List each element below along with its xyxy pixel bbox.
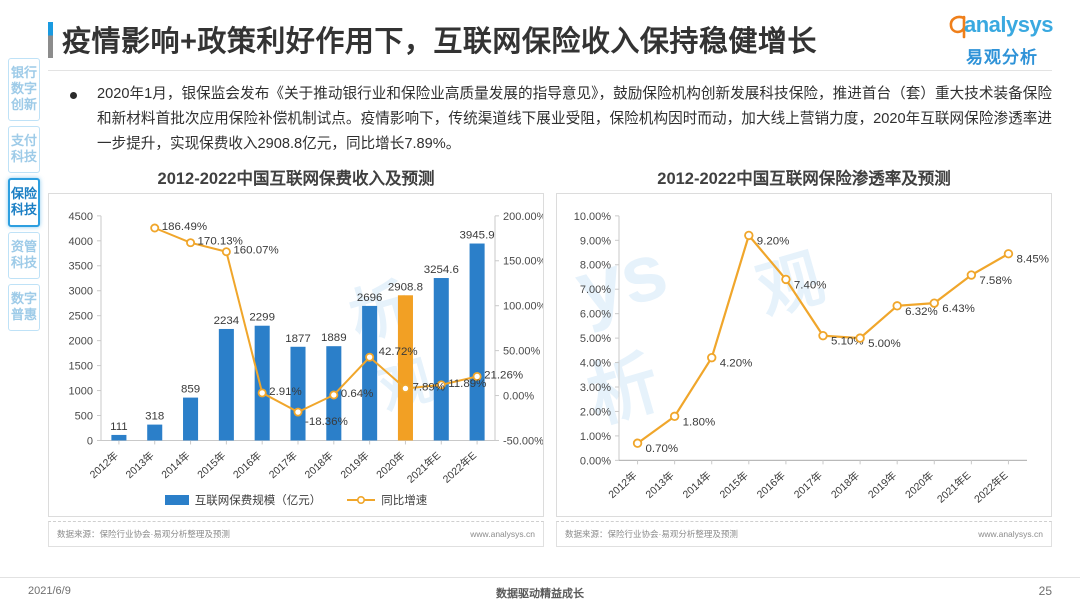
svg-text:2015年: 2015年	[717, 469, 751, 501]
svg-text:3.00%: 3.00%	[580, 382, 611, 394]
chart-source-text: 数据来源：保险行业协会·易观分析整理及预测	[57, 528, 230, 540]
svg-text:2020年: 2020年	[374, 449, 408, 481]
legend-item-bar[interactable]: 互联网保费规模（亿元）	[165, 492, 322, 508]
legend-swatch-bar-icon	[165, 495, 189, 505]
sidebar-item-label: 支付科技	[9, 133, 39, 165]
analysys-logo: analysys 易观分析	[942, 12, 1062, 64]
svg-text:2.91%: 2.91%	[269, 386, 302, 398]
svg-text:318: 318	[145, 411, 164, 423]
svg-text:0.00%: 0.00%	[503, 391, 534, 403]
svg-text:11.89%: 11.89%	[448, 378, 486, 390]
svg-text:10.00%: 10.00%	[574, 211, 612, 223]
bullet-paragraph-text: 2020年1月，银保监会发布《关于推动银行业和保险业高质量发展的指导意见》，鼓励…	[97, 82, 1052, 157]
svg-text:3254.6: 3254.6	[424, 264, 459, 276]
svg-text:2019年: 2019年	[338, 449, 372, 481]
svg-text:7.00%: 7.00%	[580, 284, 611, 296]
svg-text:-18.36%: -18.36%	[305, 416, 348, 428]
svg-text:0.00%: 0.00%	[580, 455, 611, 467]
svg-text:150.00%: 150.00%	[503, 256, 543, 268]
svg-text:2022年E: 2022年E	[440, 449, 479, 486]
svg-text:0.64%: 0.64%	[341, 388, 374, 400]
chart-footer-premium-income: 数据来源：保险行业协会·易观分析整理及预测 www.analysys.cn	[48, 521, 544, 547]
svg-text:2.00%: 2.00%	[580, 406, 611, 418]
sidebar-nav[interactable]: 银行数字创新 支付科技 保险科技 资管科技 数字普惠	[8, 58, 42, 336]
sidebar-item-label: 保险科技	[10, 186, 38, 218]
svg-text:4.20%: 4.20%	[720, 358, 753, 370]
svg-text:2018年: 2018年	[302, 449, 336, 481]
chart-panel-penetration-rate: 2012-2022中国互联网保险渗透率及预测 ys 析 观 0.00%1.00%…	[556, 165, 1052, 547]
svg-text:2019年: 2019年	[865, 469, 899, 501]
svg-text:2021年E: 2021年E	[404, 449, 443, 486]
sidebar-item-bank-digital[interactable]: 银行数字创新	[8, 58, 40, 121]
svg-text:7.58%: 7.58%	[979, 275, 1012, 287]
chart-title-premium-income: 2012-2022中国互联网保费收入及预测	[48, 165, 544, 189]
svg-text:3945.9: 3945.9	[460, 230, 495, 242]
chart-svg-premium-income: 050010001500200025003000350040004500-50.…	[49, 194, 543, 516]
legend-label-bar: 互联网保费规模（亿元）	[195, 492, 322, 508]
svg-text:3500: 3500	[69, 261, 93, 273]
svg-text:186.49%: 186.49%	[162, 221, 207, 233]
svg-text:1.80%: 1.80%	[683, 416, 716, 428]
svg-text:1877: 1877	[285, 333, 311, 345]
svg-text:42.72%: 42.72%	[379, 346, 418, 358]
svg-text:8.45%: 8.45%	[1016, 254, 1049, 266]
svg-text:2012年: 2012年	[606, 469, 640, 501]
svg-text:1889: 1889	[321, 332, 347, 344]
footer-page-number: 25	[1039, 584, 1052, 598]
svg-text:2017年: 2017年	[791, 469, 825, 501]
sidebar-item-label: 数字普惠	[9, 291, 39, 323]
svg-text:160.07%: 160.07%	[233, 245, 278, 257]
svg-text:9.20%: 9.20%	[757, 235, 790, 247]
svg-text:2000: 2000	[69, 336, 93, 348]
svg-text:2015年: 2015年	[195, 449, 229, 481]
bullet-dot-icon	[70, 92, 77, 99]
sidebar-item-label: 资管科技	[9, 239, 39, 271]
svg-text:500: 500	[75, 411, 93, 423]
header-divider	[48, 70, 1052, 71]
svg-text:111: 111	[110, 421, 127, 433]
chart-footer-penetration-rate: 数据来源：保险行业协会·易观分析整理及预测 www.analysys.cn	[556, 521, 1052, 547]
title-accent-bar	[48, 22, 53, 58]
page-footer: 2021/6/9 数据驱动精益成长 25	[0, 577, 1080, 608]
svg-text:200.00%: 200.00%	[503, 211, 543, 223]
svg-text:2016年: 2016年	[230, 449, 264, 481]
svg-text:0: 0	[87, 435, 93, 447]
sidebar-item-digital-inclusive[interactable]: 数字普惠	[8, 284, 40, 331]
svg-text:1500: 1500	[69, 361, 93, 373]
svg-text:2017年: 2017年	[266, 449, 300, 481]
svg-text:7.89%: 7.89%	[412, 381, 445, 393]
svg-text:5.00%: 5.00%	[580, 333, 611, 345]
page-title: 疫情影响+政策利好作用下，互联网保险收入保持稳健增长	[62, 18, 817, 60]
svg-text:3000: 3000	[69, 286, 93, 298]
svg-text:2012年: 2012年	[87, 449, 121, 481]
svg-text:7.40%: 7.40%	[794, 279, 827, 291]
chart-source-url: www.analysys.cn	[470, 529, 535, 539]
chart-body-premium-income: 析 观 050010001500200025003000350040004500…	[48, 193, 544, 517]
svg-text:-50.00%: -50.00%	[503, 435, 543, 447]
sidebar-item-payment-tech[interactable]: 支付科技	[8, 126, 40, 173]
svg-text:2022年E: 2022年E	[971, 469, 1010, 506]
svg-text:2908.8: 2908.8	[388, 281, 423, 293]
svg-text:6.00%: 6.00%	[580, 309, 611, 321]
svg-text:1000: 1000	[69, 386, 93, 398]
svg-text:4500: 4500	[69, 211, 93, 223]
footer-slogan: 数据驱动精益成长	[0, 585, 1080, 601]
svg-text:9.00%: 9.00%	[580, 235, 611, 247]
svg-text:2018年: 2018年	[828, 469, 862, 501]
chart-source-text: 数据来源：保险行业协会·易观分析整理及预测	[565, 528, 738, 540]
logo-chinese-name: 易观分析	[942, 43, 1062, 68]
svg-text:2500: 2500	[69, 311, 93, 323]
chart-source-url: www.analysys.cn	[978, 529, 1043, 539]
svg-text:1.00%: 1.00%	[580, 431, 611, 443]
svg-text:5.00%: 5.00%	[868, 338, 901, 350]
svg-text:2020年: 2020年	[902, 469, 936, 501]
legend-item-line[interactable]: 同比增速	[347, 492, 427, 508]
svg-text:4000: 4000	[69, 236, 93, 248]
svg-text:100.00%: 100.00%	[503, 301, 543, 313]
page-header: 疫情影响+政策利好作用下，互联网保险收入保持稳健增长 analysys 易观分析	[0, 0, 1080, 74]
svg-text:6.43%: 6.43%	[942, 303, 975, 315]
svg-text:2014年: 2014年	[680, 469, 714, 501]
svg-text:50.00%: 50.00%	[503, 346, 541, 358]
sidebar-item-insurance-tech[interactable]: 保险科技	[8, 178, 40, 227]
svg-text:0.70%: 0.70%	[646, 443, 679, 455]
svg-text:859: 859	[181, 384, 200, 396]
svg-text:8.00%: 8.00%	[580, 260, 611, 272]
chart-title-penetration-rate: 2012-2022中国互联网保险渗透率及预测	[556, 165, 1052, 189]
svg-text:2016年: 2016年	[754, 469, 788, 501]
chart-panel-premium-income: 2012-2022中国互联网保费收入及预测 析 观 05001000150020…	[48, 165, 544, 547]
svg-text:2696: 2696	[357, 292, 383, 304]
chart-body-penetration-rate: ys 析 观 0.00%1.00%2.00%3.00%4.00%5.00%6.0…	[556, 193, 1052, 517]
legend-label-line: 同比增速	[381, 492, 427, 508]
logo-wordmark: analysys	[964, 12, 1053, 38]
svg-text:2021年E: 2021年E	[934, 469, 973, 506]
sidebar-item-label: 银行数字创新	[9, 65, 39, 113]
sidebar-item-asset-mgmt-tech[interactable]: 资管科技	[8, 232, 40, 279]
svg-text:2013年: 2013年	[643, 469, 677, 501]
legend-swatch-line-icon	[347, 495, 375, 505]
svg-text:2299: 2299	[249, 312, 275, 324]
chart-legend-premium-income: 互联网保费规模（亿元） 同比增速	[49, 492, 543, 508]
chart-svg-penetration-rate: 0.00%1.00%2.00%3.00%4.00%5.00%6.00%7.00%…	[557, 194, 1051, 516]
svg-text:4.00%: 4.00%	[580, 358, 611, 370]
bullet-paragraph: 2020年1月，银保监会发布《关于推动银行业和保险业高质量发展的指导意见》，鼓励…	[62, 82, 1052, 157]
svg-text:21.26%: 21.26%	[484, 369, 523, 381]
svg-text:2014年: 2014年	[159, 449, 193, 481]
svg-text:2013年: 2013年	[123, 449, 157, 481]
svg-text:2234: 2234	[214, 315, 240, 327]
